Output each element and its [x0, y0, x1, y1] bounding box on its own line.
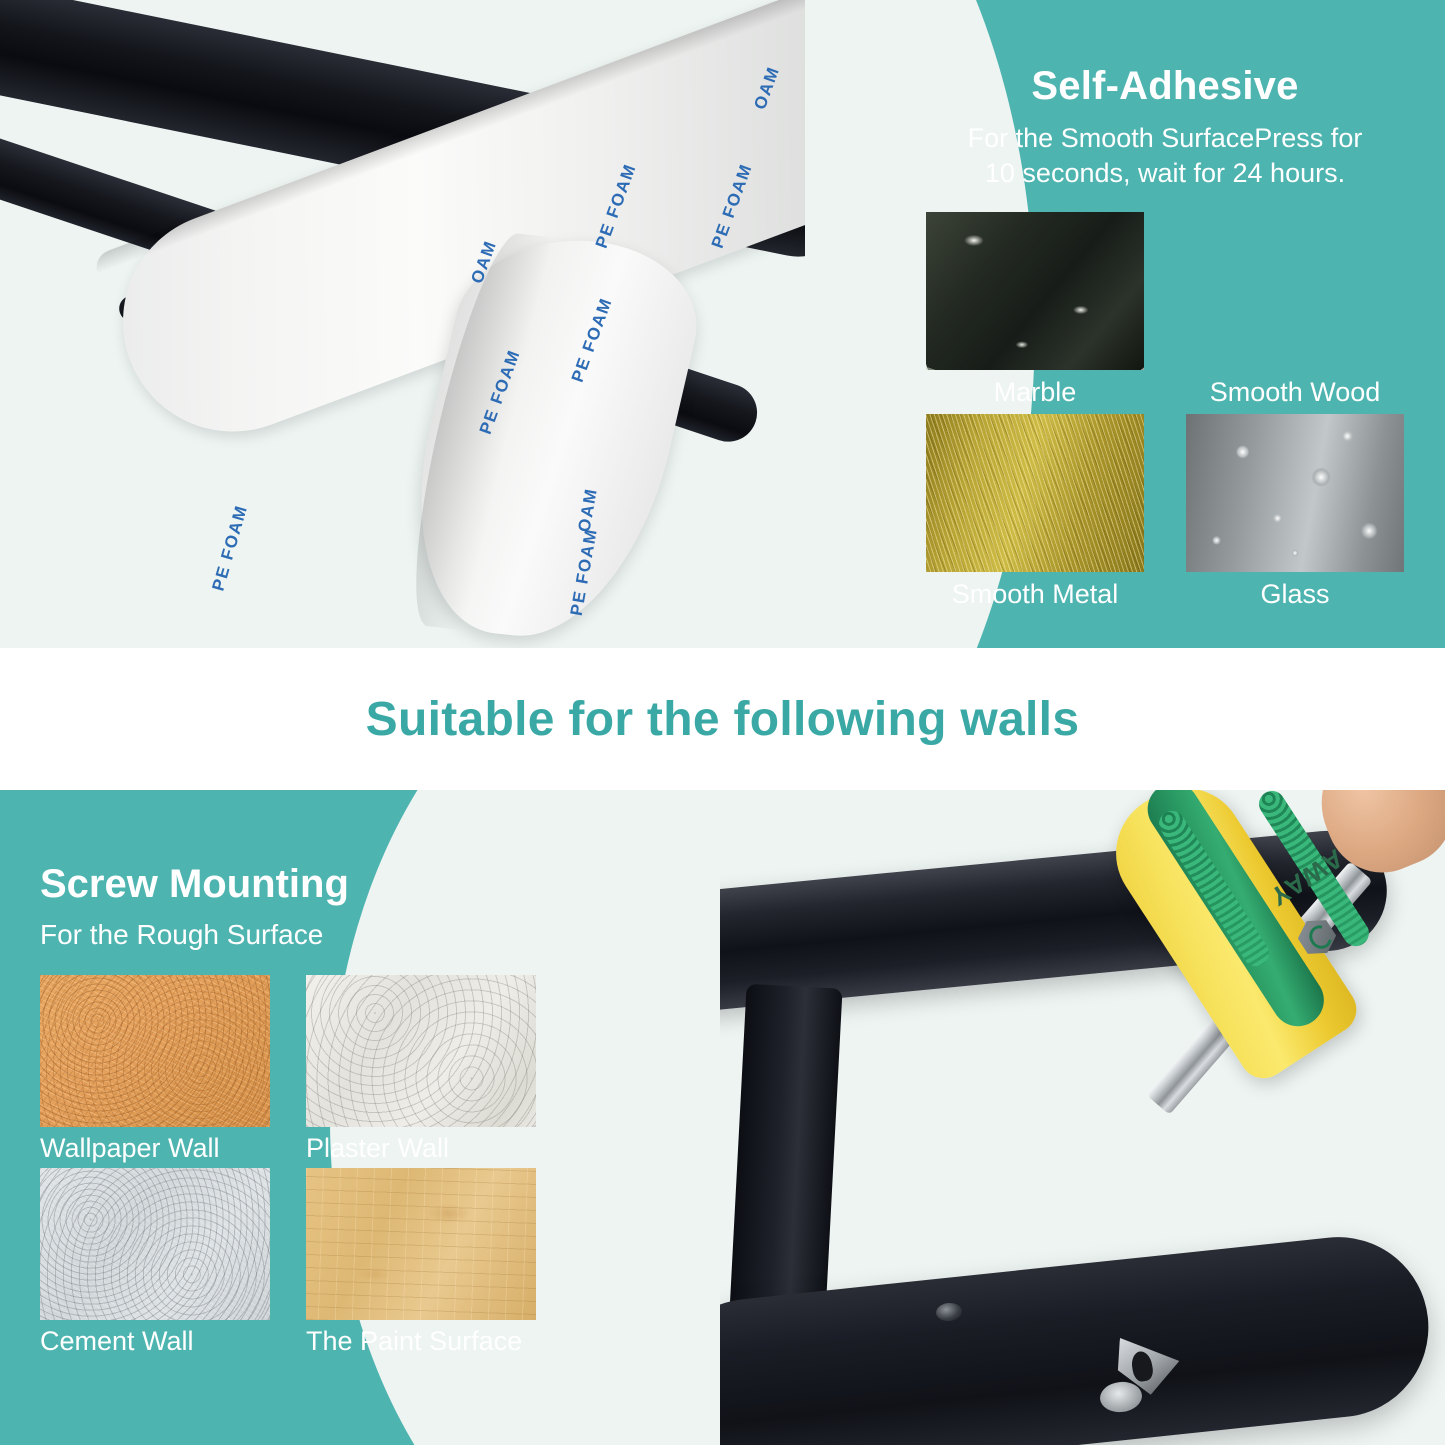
cement-swatch-image	[40, 1168, 270, 1320]
surface-label: Smooth Wood	[1210, 377, 1381, 408]
marble-swatch-image	[926, 212, 1144, 370]
surface-item-smooth-metal: Smooth Metal	[919, 414, 1151, 612]
screw-mounting-section: DEEAWAY Screw Mounting For the Rough Sur…	[0, 790, 1445, 1445]
wallpaper-swatch-image	[40, 975, 270, 1127]
suitable-walls-banner: Suitable for the following walls	[0, 648, 1445, 790]
subtitle-line-1: For the Smooth SurfacePress for	[903, 121, 1427, 156]
plaster-swatch-image	[306, 975, 536, 1127]
surface-item-smooth-wood: Smooth Wood	[1179, 212, 1411, 410]
surface-label: Marble	[994, 377, 1077, 408]
grab-bar-post	[729, 984, 842, 1319]
wall-label: The Paint Surface	[306, 1326, 540, 1357]
self-adhesive-content: Self-Adhesive For the Smooth SurfacePres…	[885, 0, 1445, 648]
wood-swatch-image	[1186, 212, 1404, 370]
self-adhesive-section: OAM PE FOAM PE FOAM PE FOAM OAM PE FOAM …	[0, 0, 1445, 648]
subtitle-line-2: 10 seconds, wait for 24 hours.	[903, 156, 1427, 191]
surface-item-marble: Marble	[919, 212, 1151, 410]
pe-foam-text: PE FOAM	[208, 503, 252, 594]
screw-mounting-subtitle: For the Rough Surface	[40, 919, 600, 951]
banner-title: Suitable for the following walls	[366, 692, 1080, 747]
wall-item-wallpaper: Wallpaper Wall	[40, 975, 274, 1166]
glass-swatch-image	[1186, 414, 1404, 572]
wall-label: Plaster Wall	[306, 1133, 540, 1164]
adhesive-tape-photo: OAM PE FOAM PE FOAM PE FOAM OAM PE FOAM …	[0, 0, 900, 648]
metal-swatch-image	[926, 414, 1144, 572]
wall-label: Cement Wall	[40, 1326, 274, 1357]
surface-item-glass: Glass	[1179, 414, 1411, 612]
wall-label: Wallpaper Wall	[40, 1133, 274, 1164]
wall-item-paint: The Paint Surface	[306, 1168, 540, 1359]
paint-swatch-image	[306, 1168, 536, 1320]
screw-mounting-content: Screw Mounting For the Rough Surface Wal…	[0, 790, 600, 1445]
rough-wall-grid: Wallpaper Wall Plaster Wall Cement Wall …	[40, 975, 540, 1359]
smooth-surface-grid: Marble Smooth Wood Smooth Metal Glass	[885, 212, 1445, 612]
surface-label: Smooth Metal	[952, 579, 1119, 610]
surface-label: Glass	[1260, 579, 1329, 610]
self-adhesive-title: Self-Adhesive	[885, 64, 1445, 109]
wall-item-plaster: Plaster Wall	[306, 975, 540, 1166]
wall-item-cement: Cement Wall	[40, 1168, 274, 1359]
screw-mounting-title: Screw Mounting	[40, 862, 600, 907]
self-adhesive-subtitle: For the Smooth SurfacePress for 10 secon…	[885, 121, 1445, 190]
